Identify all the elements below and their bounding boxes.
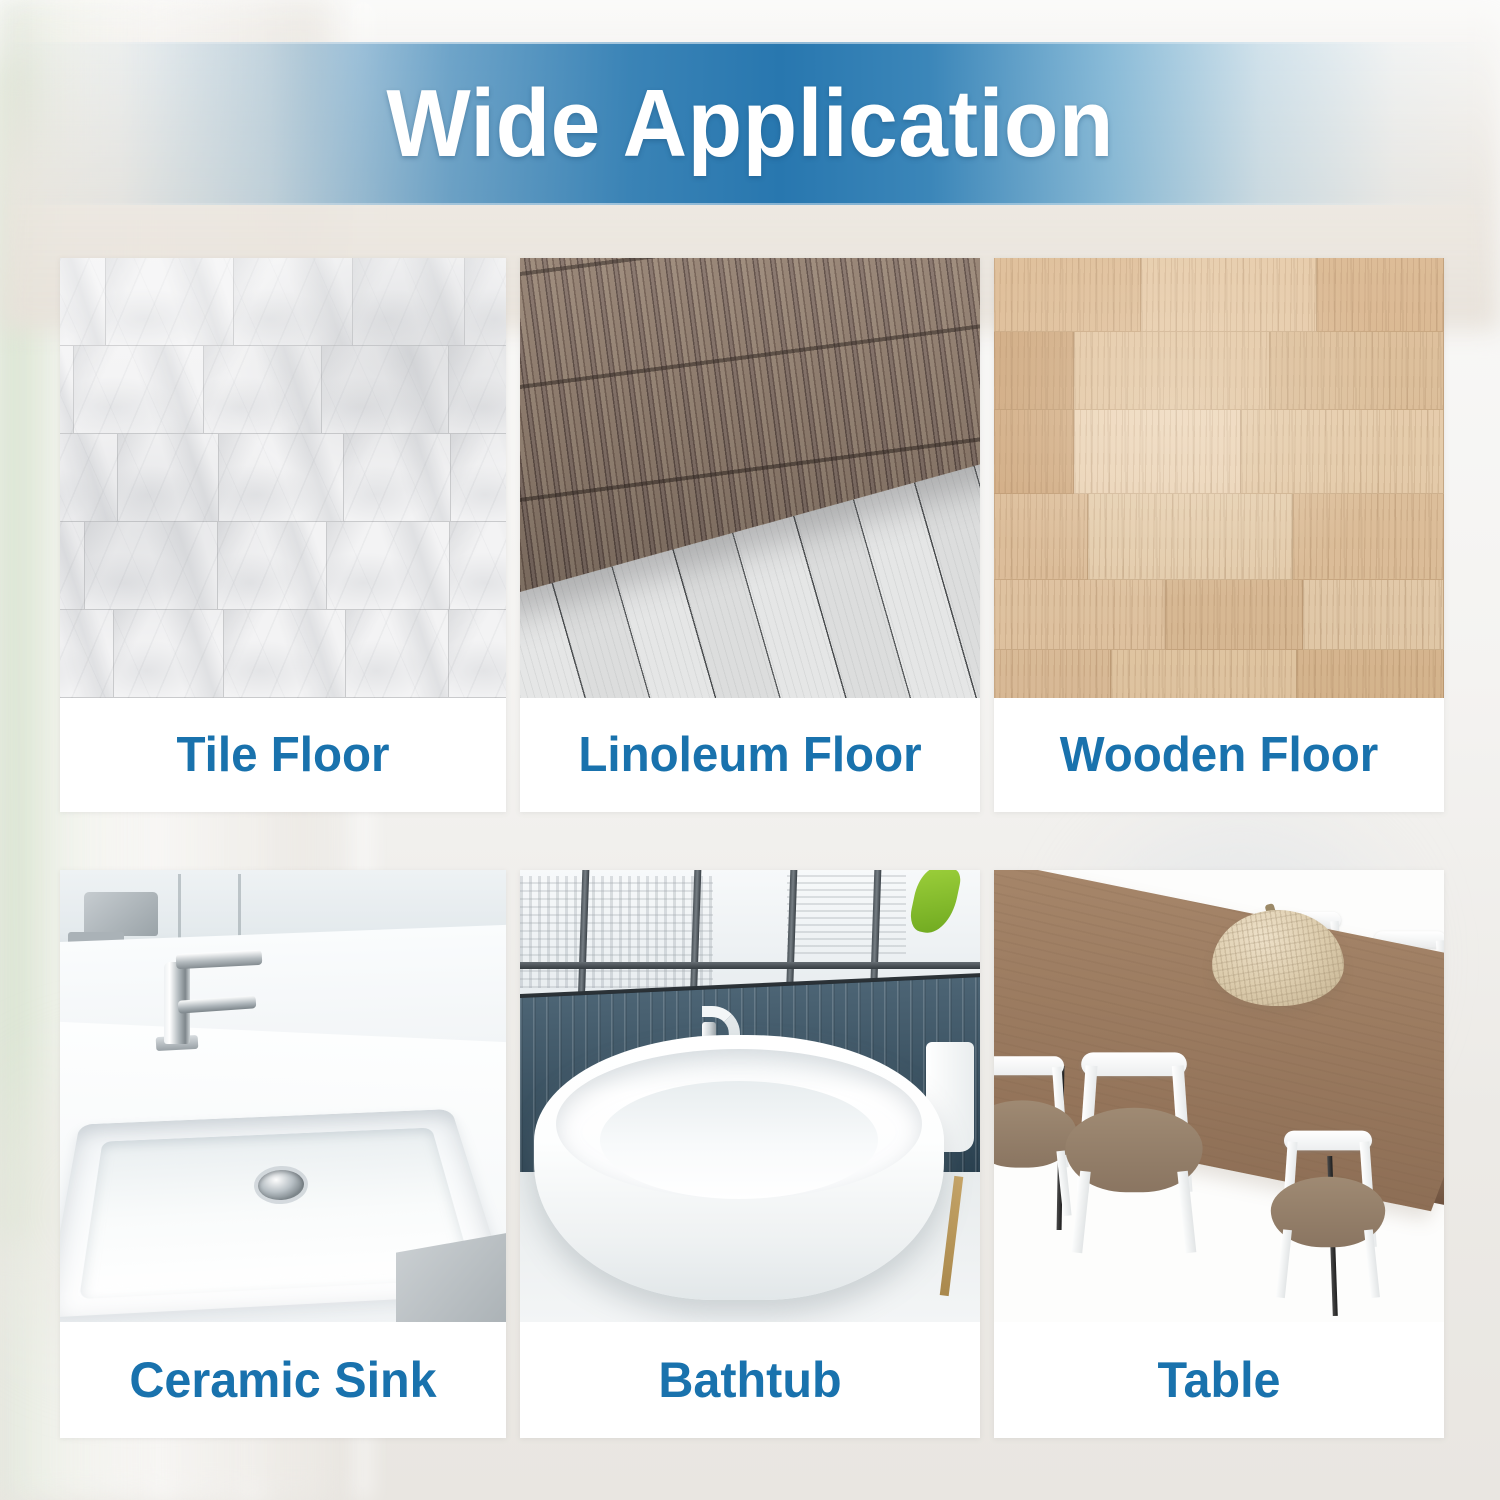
card-wooden-floor[interactable]: Wooden Floor [994,258,1444,812]
header-banner: Wide Application [0,42,1500,205]
card-ceramic-sink[interactable]: Ceramic Sink [60,870,506,1438]
window-rail [520,962,980,969]
card-tile-floor[interactable]: Tile Floor [60,258,506,812]
card-label-linoleum-floor: Linoleum Floor [527,698,973,812]
card-bathtub[interactable]: Bathtub [520,870,980,1438]
card-label-bathtub: Bathtub [527,1322,973,1438]
card-label-table: Table [1001,1322,1438,1438]
page-title: Wide Application [386,76,1113,172]
chair-front-center [1065,1052,1202,1247]
banner-top-highlight [0,42,1500,44]
card-label-tile-floor: Tile Floor [67,698,500,812]
rolled-vinyl-sheet-photo [520,258,980,698]
card-table[interactable]: Table [994,870,1444,1438]
wooden-dining-table-photo [994,870,1444,1322]
card-label-wooden-floor: Wooden Floor [1001,698,1438,812]
mirror-faucet-reflection [84,892,158,936]
chair-front-left [994,1056,1077,1211]
tile-scene [60,258,506,698]
tile-shading [60,258,506,698]
table-scene [994,870,1444,1322]
sink-scene [60,870,506,1322]
wood-lighting [994,258,1444,698]
banner-bottom-highlight [0,203,1500,205]
marble-tile-floor-photo [60,258,506,698]
application-card-grid: Tile Floor Linoleum [60,258,1444,1438]
freestanding-white-bathtub-photo [520,870,980,1322]
city-skyline-view-right [787,874,907,954]
linoleum-scene [520,258,980,698]
chair-front-right [1271,1131,1385,1294]
city-skyline-view [520,876,713,988]
light-oak-plank-floor-photo [994,258,1444,698]
bathtub-body [534,1035,944,1300]
card-linoleum-floor[interactable]: Linoleum Floor [520,258,980,812]
white-undermount-sink-photo [60,870,506,1322]
wood-scene [994,258,1444,698]
bathtub-interior [600,1081,878,1199]
infographic-page: Wide Application [0,0,1500,1500]
bathtub-rim [556,1049,922,1199]
card-label-ceramic-sink: Ceramic Sink [67,1322,500,1438]
bathtub-scene [520,870,980,1322]
